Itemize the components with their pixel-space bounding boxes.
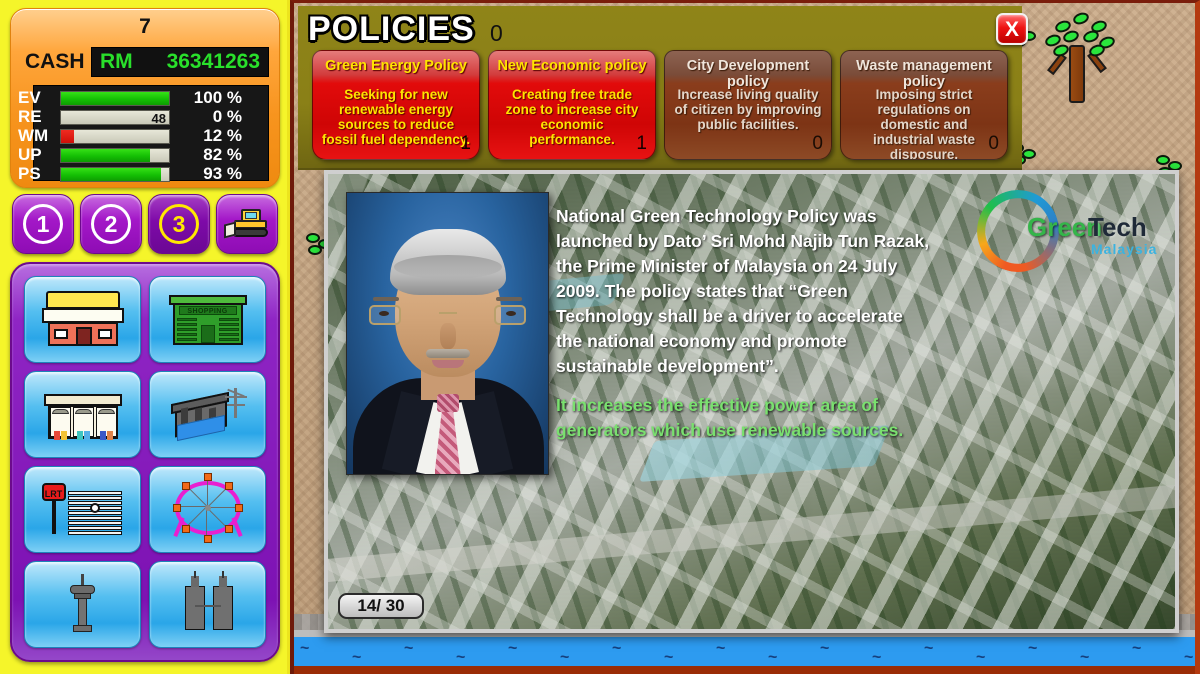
policy-card-count: 0 [812,133,823,155]
left-sidebar: 7 CASH RM 36341263 EV100 %RE480 %WM12 %U… [0,0,290,674]
cash-label: CASH [25,50,91,74]
water-strip: ~~~~~~~~~~~~~~~~~~ [294,630,1195,674]
wave-icon: ~ [1184,649,1193,667]
build-button-shopping-mall[interactable]: SHOPPING [149,276,266,363]
policy-card[interactable]: Green Energy PolicySeeking for new renew… [312,50,480,160]
policies-header-band: POLICIES 0 Green Energy PolicySeeking fo… [298,6,1022,170]
speed-button-1[interactable]: 1 [12,194,74,254]
meter-row: PS93 % [38,165,264,183]
meter-percent: 100 % [170,89,248,107]
policy-effect-text: It increases the effective power area of… [556,393,931,443]
portrait-photo [346,192,549,475]
cash-amount: 36341263 [167,50,260,74]
policies-title: POLICIES [308,10,475,49]
speed-button-3[interactable]: 3 [148,194,210,254]
meter-label: EV [16,89,60,107]
wave-icon: ~ [560,649,569,667]
policy-card[interactable]: City Development policyIncrease living q… [664,50,832,160]
policy-card[interactable]: Waste management policyImposing strict r… [840,50,1008,160]
game-screen: 7 CASH RM 36341263 EV100 %RE480 %WM12 %U… [0,0,1200,674]
build-button-ferris-wheel[interactable] [149,466,266,553]
speed-button-2[interactable]: 2 [80,194,142,254]
mall-sign-text: SHOPPING [179,306,237,315]
cash-display: RM 36341263 [91,47,269,77]
speed-button-label: 2 [91,204,131,244]
meter-percent: 12 % [170,127,248,145]
policy-card[interactable]: New Economic policyCreating free trade z… [488,50,656,160]
policy-card-description: Seeking for new renewable energy sources… [313,87,479,147]
meter-row: UP82 % [38,146,264,164]
speed-button-label: 1 [23,204,63,244]
tree-icon [1039,9,1115,105]
wave-icon: ~ [1132,640,1141,658]
policy-card-description: Creating free trade zone to increase cit… [489,87,655,147]
turn-number: 7 [11,15,279,39]
close-button[interactable]: X [996,13,1028,45]
wave-icon: ~ [352,649,361,667]
meter-percent: 0 % [170,108,248,126]
logo-subtitle: Malaysia [1091,241,1157,257]
meters-panel: EV100 %RE480 %WM12 %UP82 %PS93 % [33,85,269,181]
shop-row-icon [40,384,126,446]
shopping-mall-icon: SHOPPING [165,289,251,351]
policy-card-title: City Development policy [665,58,831,90]
speed-controls: 123 [12,194,278,256]
policy-card-title: New Economic policy [489,58,655,74]
build-button-lrt-station[interactable]: LRT [24,466,141,553]
wave-icon: ~ [924,640,933,658]
greentech-malaysia-logo: Green Tech Malaysia [973,186,1148,278]
cash-row: CASH RM 36341263 [25,47,269,77]
policy-info-dialog: National Green Technology Policy was lau… [324,170,1179,633]
wave-icon: ~ [768,649,777,667]
policy-card-title: Waste management policy [841,58,1007,90]
meter-row: EV100 % [38,89,264,107]
policy-body-text: National Green Technology Policy was lau… [556,204,931,379]
wave-icon: ~ [716,640,725,658]
wave-icon: ~ [820,640,829,658]
wave-icon: ~ [1080,649,1089,667]
policy-card-description: Increase living quality of citizen by im… [665,87,831,132]
meter-inner-label: 48 [152,111,166,125]
build-button-twin-towers[interactable] [149,561,266,648]
policy-card-count: 1 [460,133,471,155]
meter-track [60,129,170,144]
wave-icon: ~ [300,640,309,658]
wave-icon: ~ [664,649,673,667]
ferris-wheel-icon [165,479,251,541]
bulldozer-button[interactable] [216,194,278,254]
hydro-dam-icon [165,384,251,446]
logo-word-tech: Tech [1088,212,1147,243]
speed-button-label: 3 [159,204,199,244]
meter-track [60,167,170,182]
policy-card-count: 1 [636,133,647,155]
build-button-kl-tower[interactable] [24,561,141,648]
house-icon [40,289,126,351]
power-pylon-icon [225,388,247,420]
meter-track [60,148,170,163]
meter-percent: 82 % [170,146,248,164]
bulldozer-icon [224,209,270,239]
kl-tower-icon [40,574,126,636]
dialog-text-block: National Green Technology Policy was lau… [556,204,931,443]
policy-card-title: Green Energy Policy [313,58,479,74]
policy-card-description: Imposing strict regulations on domestic … [841,87,1007,160]
wave-icon: ~ [404,640,413,658]
meter-row: RE480 % [38,108,264,126]
build-palette: SHOPPINGLRT [10,262,280,662]
meter-label: PS [16,165,60,183]
cash-currency: RM [100,50,133,74]
lrt-sign-text: LRT [42,483,66,501]
city-stats-panel: 7 CASH RM 36341263 EV100 %RE480 %WM12 %U… [10,8,280,188]
build-button-hydro-dam[interactable] [149,371,266,458]
meter-label: WM [16,127,60,145]
wave-icon: ~ [872,649,881,667]
meter-track [60,91,170,106]
build-button-shop-row[interactable] [24,371,141,458]
wave-icon: ~ [612,640,621,658]
page-indicator[interactable]: 14/ 30 [338,593,424,619]
wave-icon: ~ [508,640,517,658]
meter-row: WM12 % [38,127,264,145]
meter-label: UP [16,146,60,164]
wave-icon: ~ [1028,640,1037,658]
meter-track: 48 [60,110,170,125]
meter-label: RE [16,108,60,126]
build-button-house[interactable] [24,276,141,363]
policy-card-list: Green Energy PolicySeeking for new renew… [312,50,1008,160]
game-world[interactable]: ~~~~~~~~~~~~~~~~~~ POLICIES 0 Green Ener… [290,0,1200,674]
policies-count: 0 [490,20,503,47]
wave-icon: ~ [456,649,465,667]
wave-icon: ~ [976,649,985,667]
meter-percent: 93 % [170,165,248,183]
lrt-station-icon: LRT [40,479,126,541]
policy-card-count: 0 [988,133,999,155]
twin-towers-icon [165,574,251,636]
